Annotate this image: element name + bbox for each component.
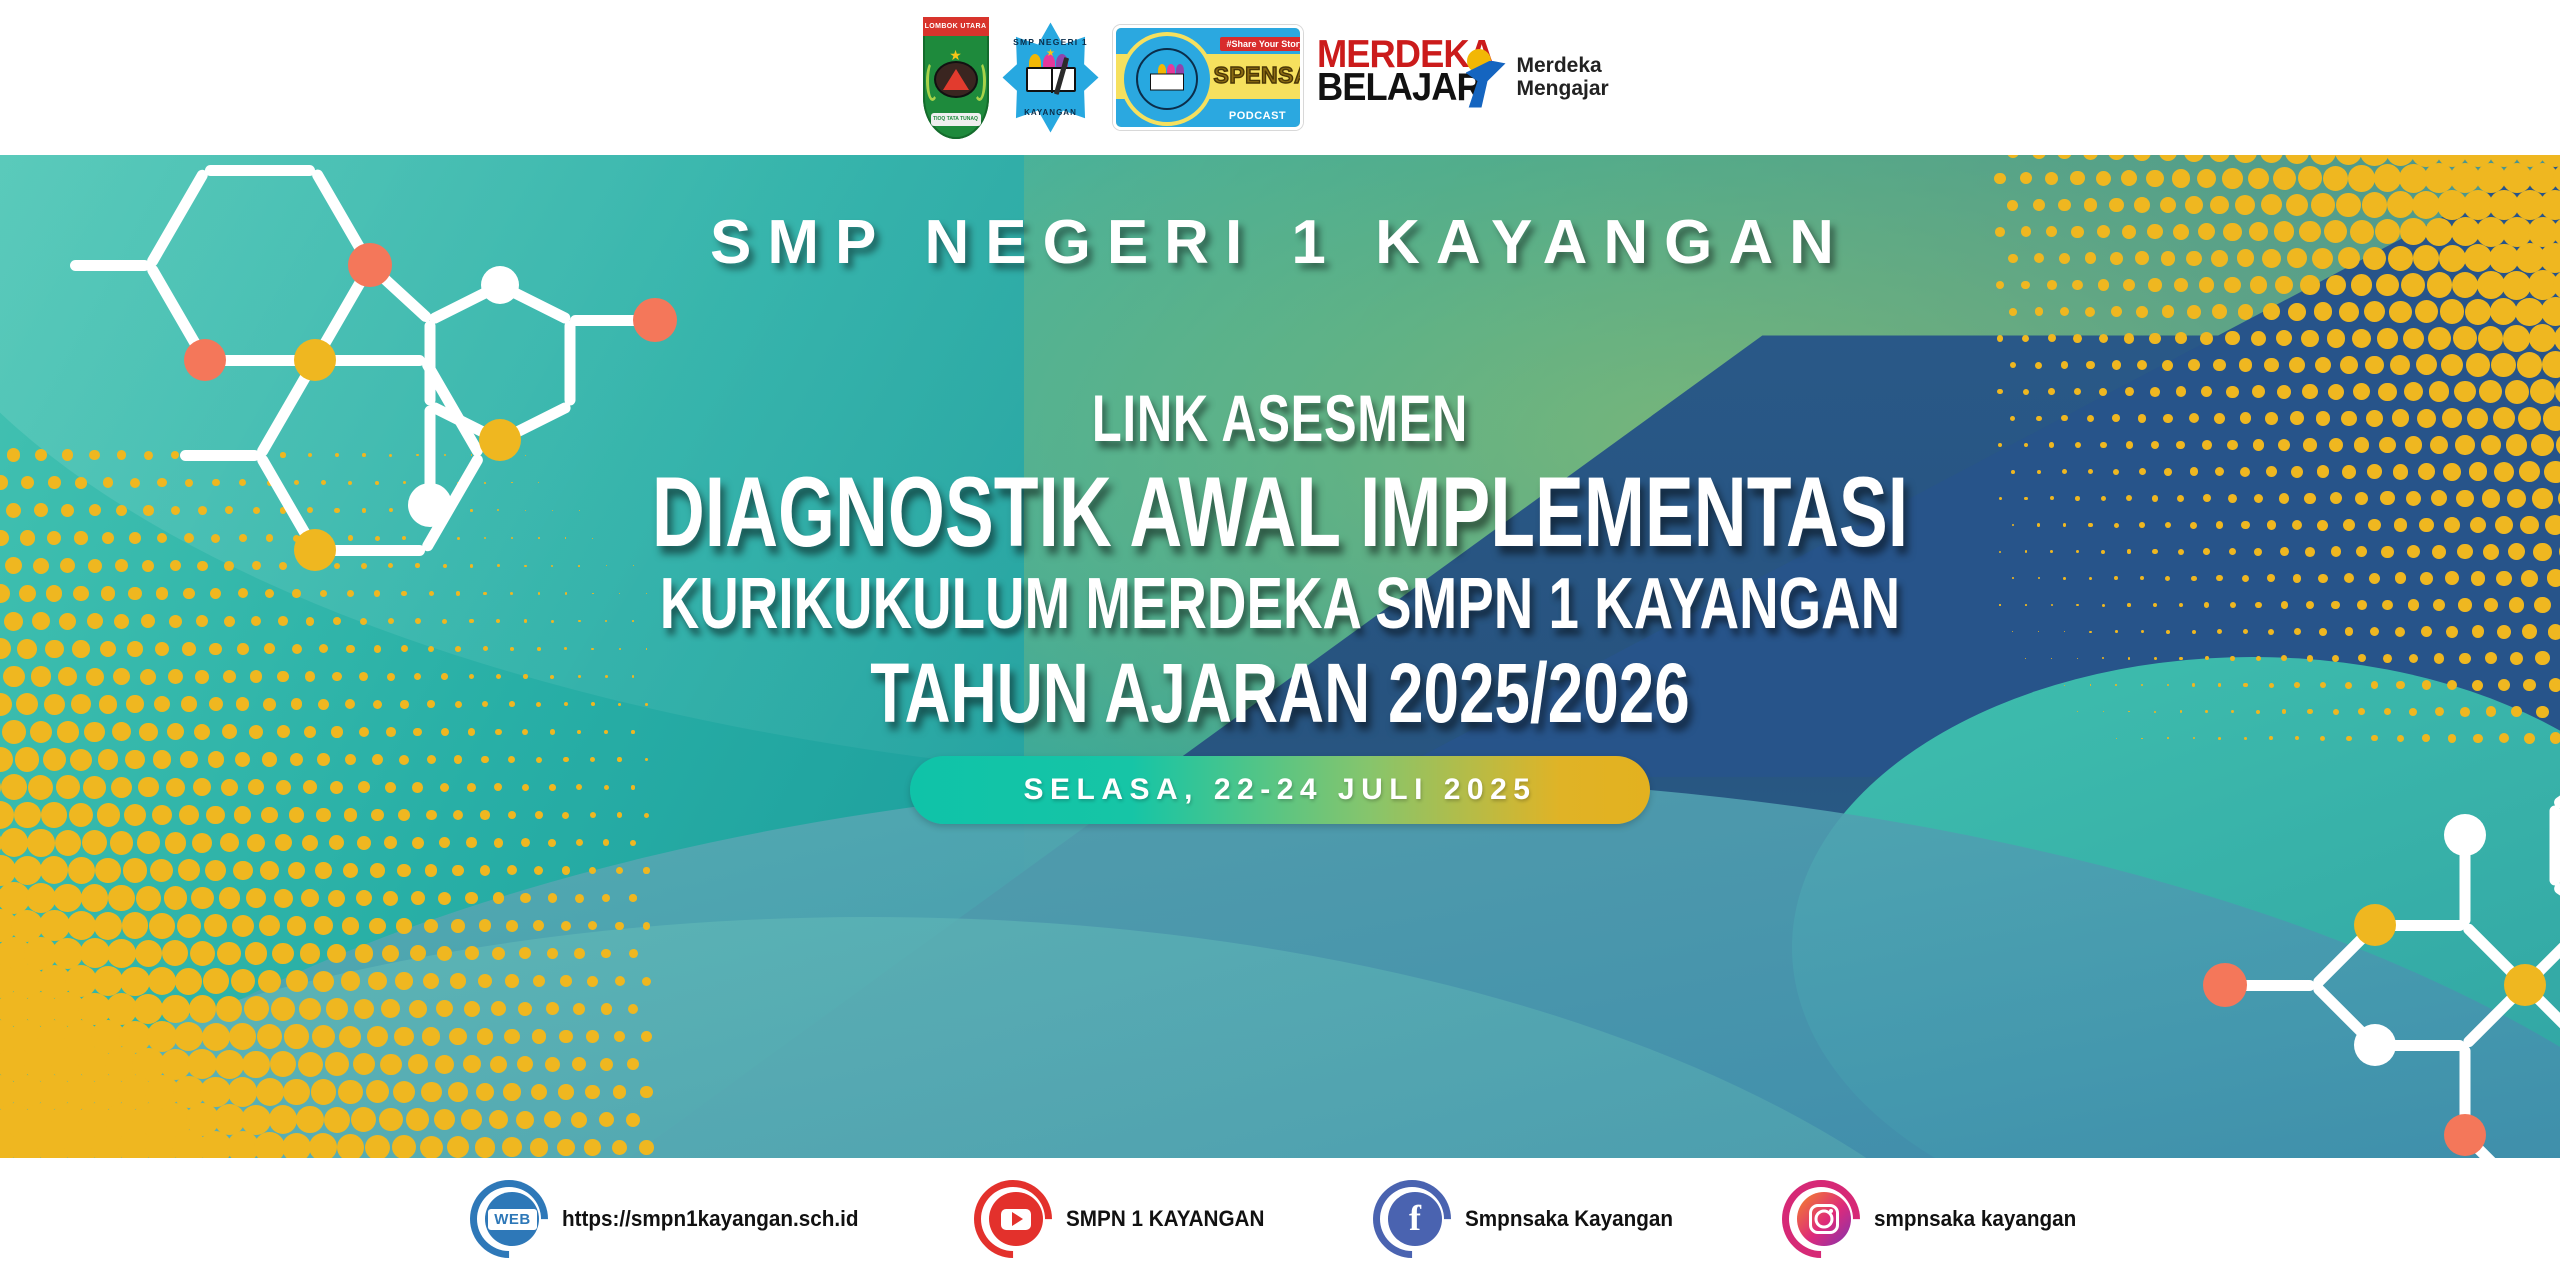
crest-star-icon: ★ bbox=[949, 48, 962, 62]
facebook-f-icon: f bbox=[1409, 1200, 1421, 1236]
facebook-disc: f bbox=[1388, 1192, 1442, 1246]
banner-line-year: TAHUN AJARAN 2025/2026 bbox=[307, 645, 2253, 742]
footer-item-label[interactable]: https://smpn1kayangan.sch.id bbox=[562, 1206, 858, 1232]
merdeka-mengajar-wordmark: Merdeka Mengajar bbox=[1517, 55, 1609, 100]
instagram-icon[interactable] bbox=[1782, 1180, 1860, 1258]
date-pill-label: SELASA, 22-24 JULI 2025 bbox=[1023, 773, 1536, 807]
spensaka-wordmark: SPENSAKA bbox=[1214, 62, 1302, 89]
crest-top-text: LOMBOK UTARA bbox=[923, 17, 989, 36]
spensaka-crest bbox=[1120, 32, 1214, 126]
instagram-disc bbox=[1797, 1192, 1851, 1246]
footer-item-web[interactable]: WEBhttps://smpn1kayangan.sch.id bbox=[470, 1180, 877, 1258]
youtube-disc bbox=[989, 1192, 1043, 1246]
merdeka-mengajar-logo: Merdeka Mengajar bbox=[1463, 43, 1638, 113]
merdeka-mengajar-line2: Mengajar bbox=[1517, 78, 1609, 100]
main-banner: SMP NEGERI 1 KAYANGAN LINK ASESMEN DIAGN… bbox=[0, 155, 2560, 1158]
date-pill: SELASA, 22-24 JULI 2025 bbox=[910, 756, 1650, 824]
footer-item-label[interactable]: SMPN 1 KAYANGAN bbox=[1066, 1206, 1264, 1232]
footer-social-bar: WEBhttps://smpn1kayangan.sch.idSMPN 1 KA… bbox=[0, 1158, 2560, 1280]
footer-item-facebook[interactable]: fSmpnsaka Kayangan bbox=[1373, 1180, 1686, 1258]
footer-item-instagram[interactable]: smpnsaka kayangan bbox=[1782, 1180, 2089, 1258]
youtube-icon[interactable] bbox=[974, 1180, 1052, 1258]
footer-item-label[interactable]: Smpnsaka Kayangan bbox=[1465, 1206, 1673, 1232]
merdeka-mengajar-line1: Merdeka bbox=[1517, 55, 1609, 77]
crest-arc-bottom-text: KAYANGAN bbox=[1003, 108, 1099, 117]
banner-line-main: DIAGNOSTIK AWAL IMPLEMENTASI bbox=[333, 455, 2227, 569]
spensaka-podcast-label: PODCAST bbox=[1214, 110, 1302, 122]
facebook-icon[interactable]: f bbox=[1373, 1180, 1451, 1258]
molecule-graphic-right bbox=[2255, 745, 2560, 1158]
open-book-icon bbox=[1026, 67, 1076, 92]
banner-page: LOMBOK UTARA ★ TIOQ TATA TUNAQ SMP NEGER… bbox=[0, 0, 2560, 1280]
crest-bottom-ribbon: TIOQ TATA TUNAQ bbox=[931, 113, 981, 126]
instagram-camera-icon bbox=[1809, 1204, 1839, 1234]
lombok-utara-crest: LOMBOK UTARA ★ TIOQ TATA TUNAQ bbox=[923, 17, 989, 139]
crest-small-star-icon: ★ bbox=[1046, 49, 1055, 59]
crest-mountain-icon bbox=[943, 69, 969, 90]
footer-item-label[interactable]: smpnsaka kayangan bbox=[1874, 1206, 2076, 1232]
youtube-play-icon bbox=[1001, 1209, 1031, 1230]
merdeka-mengajar-mark-icon bbox=[1463, 47, 1509, 109]
web-badge-label: WEB bbox=[488, 1209, 537, 1230]
spensaka-tagline: #Share Your Story bbox=[1220, 37, 1303, 51]
crest-ribbon-text: TIOQ TATA TUNAQ bbox=[931, 113, 981, 126]
spensaka-book-icon bbox=[1150, 74, 1184, 91]
merdeka-belajar-logo: MERDEKA BELAJAR bbox=[1317, 39, 1449, 117]
banner-line-sub: KURIKUKULUM MERDEKA SMPN 1 KAYANGAN bbox=[307, 563, 2253, 645]
crest-top-ribbon: LOMBOK UTARA bbox=[923, 17, 989, 36]
banner-school-name: SMP NEGERI 1 KAYANGAN bbox=[0, 207, 2560, 278]
spensaka-podcast-logo: #Share Your Story SPENSAKA PODCAST bbox=[1113, 25, 1303, 130]
footer-item-youtube[interactable]: SMPN 1 KAYANGAN bbox=[974, 1180, 1277, 1258]
logo-strip: LOMBOK UTARA ★ TIOQ TATA TUNAQ SMP NEGER… bbox=[0, 0, 2560, 155]
web-icon[interactable]: WEB bbox=[470, 1180, 548, 1258]
banner-line-link: LINK ASESMEN bbox=[333, 380, 2227, 456]
smp-negeri-1-kayangan-crest: SMP NEGERI 1 ★ KAYANGAN bbox=[1003, 23, 1099, 133]
merdeka-belajar-line2: BELAJAR bbox=[1317, 70, 1440, 105]
crest-arc-top-text: SMP NEGERI 1 bbox=[1003, 37, 1099, 47]
